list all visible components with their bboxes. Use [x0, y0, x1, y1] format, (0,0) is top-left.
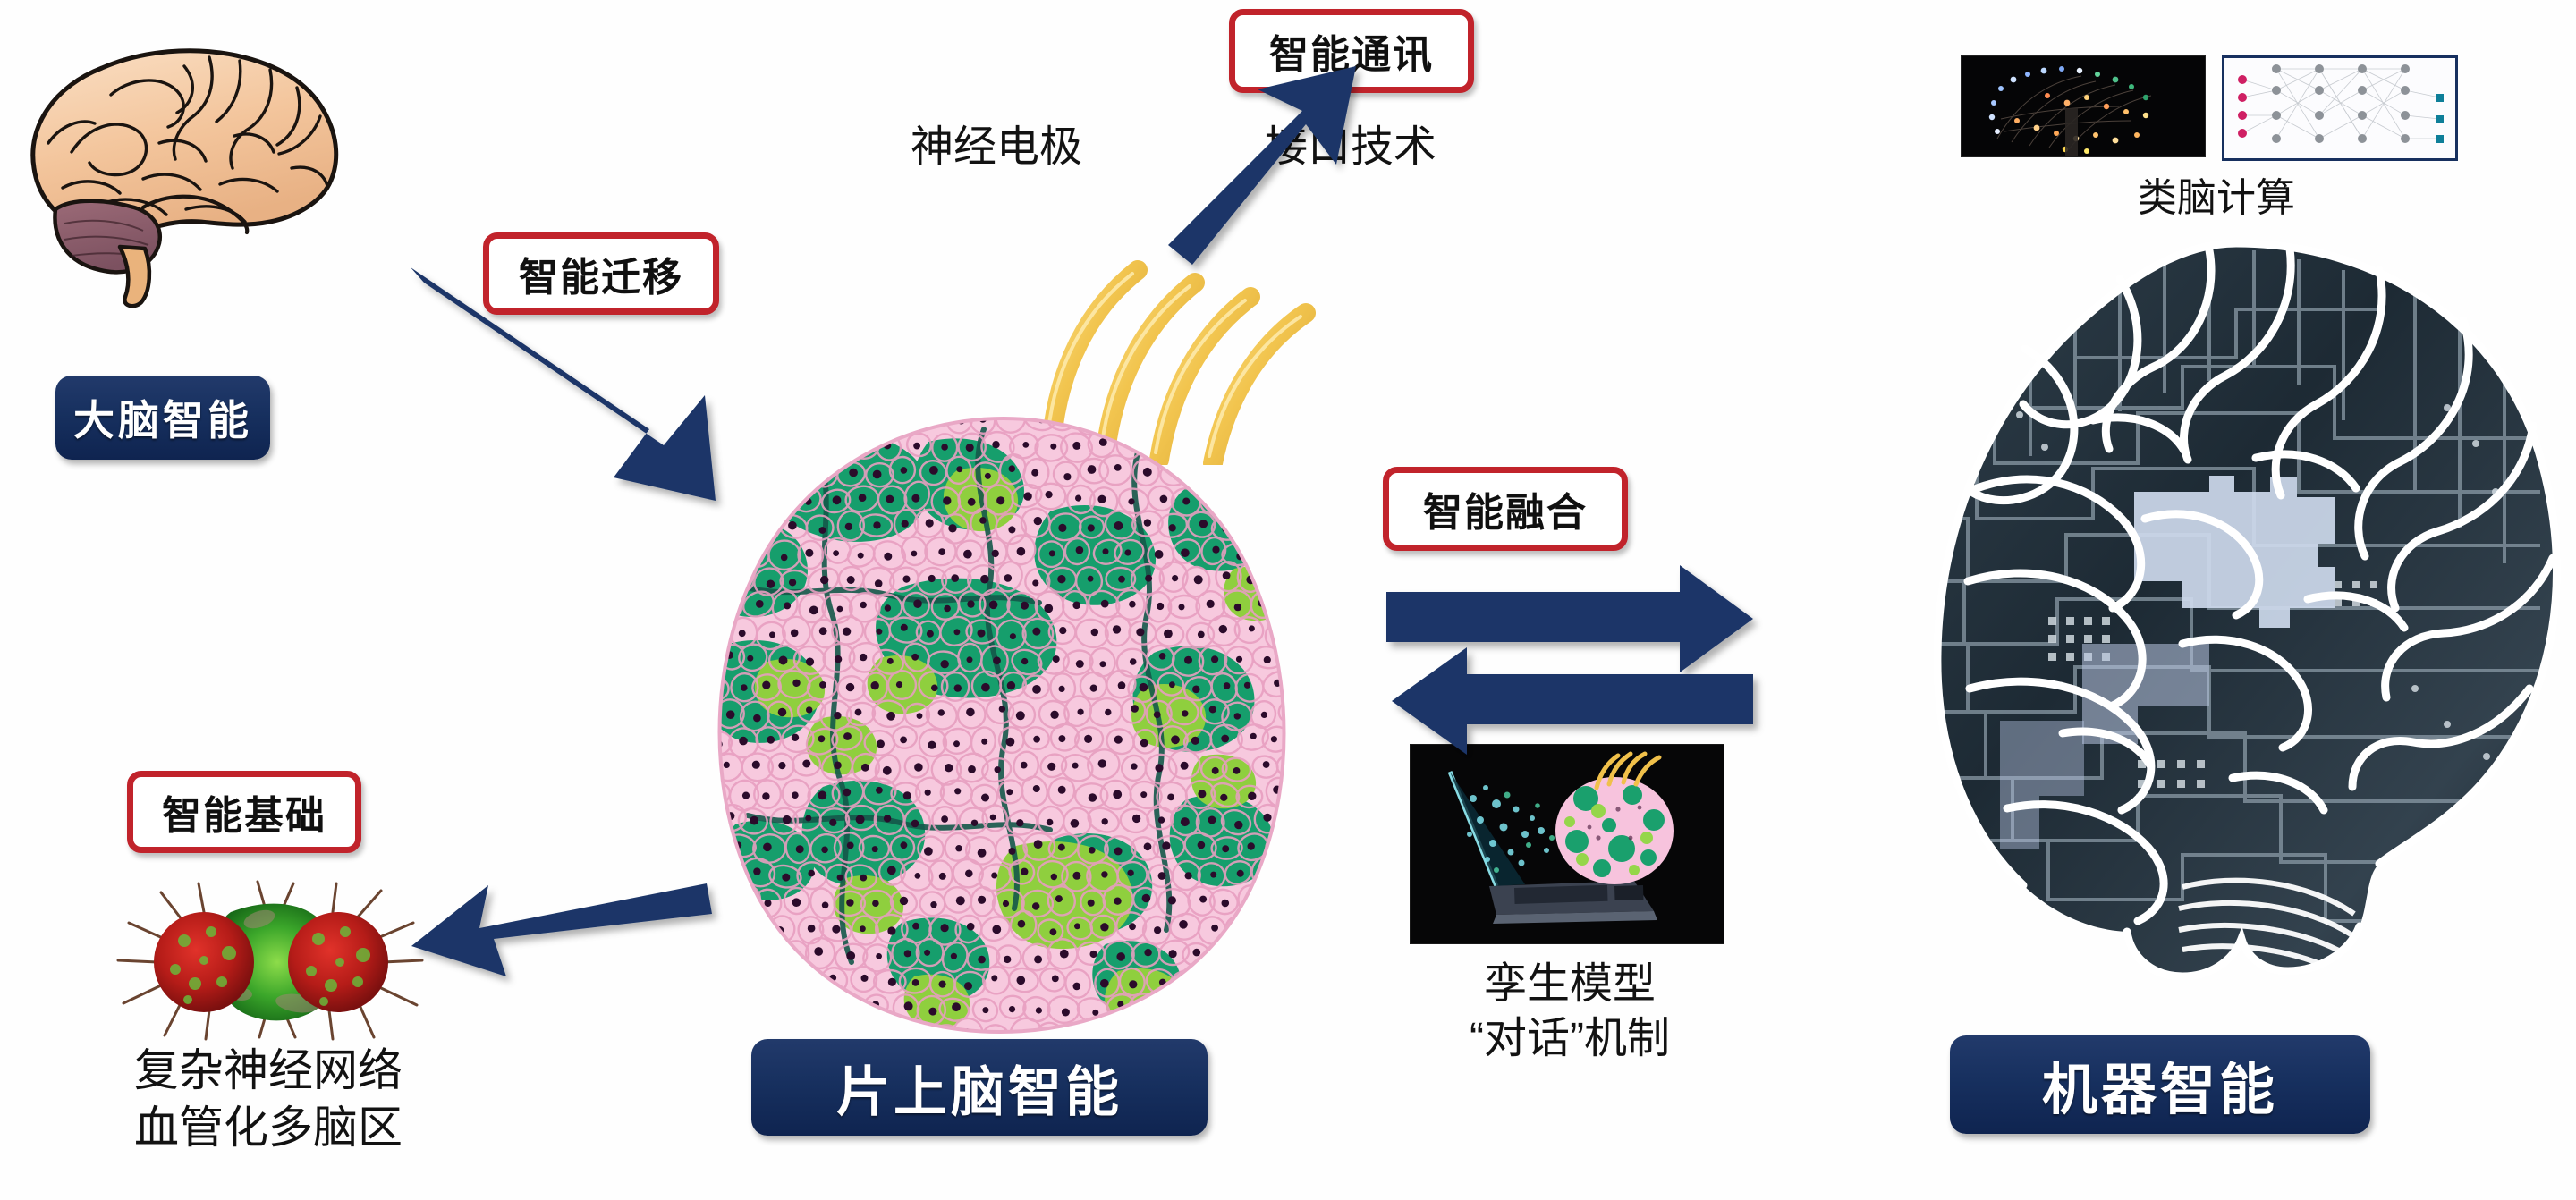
- node-brain-intelligence-label: 大脑智能: [73, 388, 252, 447]
- process-label-fusion[interactable]: 智能融合: [1383, 467, 1628, 551]
- caption-foundation-line2: 血管化多脑区: [54, 1099, 483, 1156]
- arrow-intelligence-foundation: [411, 883, 712, 976]
- process-label-communication[interactable]: 智能通讯: [1229, 9, 1474, 93]
- node-chip-brain-intelligence[interactable]: 片上脑智能: [751, 1039, 1207, 1136]
- node-chip-brain-intelligence-label: 片上脑智能: [836, 1049, 1123, 1127]
- arrow-fusion-right: [1386, 565, 1753, 672]
- diagram-canvas: 大脑智能 智能迁移 智能通讯 智能融合 智能基础 神经电极 接口技术 类脑计算: [0, 0, 2576, 1200]
- annotation-neuromorphic-computing: 类脑计算: [2138, 165, 2295, 223]
- node-brain-intelligence[interactable]: 大脑智能: [55, 376, 270, 460]
- anatomical-brain-illustration: [9, 18, 385, 313]
- caption-twin-model-line2: “对话”机制: [1395, 1011, 1744, 1066]
- process-label-foundation-text: 智能基础: [162, 783, 326, 841]
- circuit-board-brain-illustration: [1914, 224, 2576, 1019]
- process-label-transfer-text: 智能迁移: [519, 245, 683, 302]
- neural-network-node-grid: [2222, 55, 2458, 161]
- caption-twin-model: 孪生模型 “对话”机制: [1395, 957, 1744, 1067]
- process-label-foundation[interactable]: 智能基础: [127, 771, 361, 853]
- node-machine-intelligence-label: 机器智能: [2042, 1044, 2278, 1125]
- arrow-fusion-left: [1392, 647, 1753, 755]
- neuron-constellation-brain-photo: [1961, 55, 2206, 157]
- process-label-communication-text: 智能通讯: [1269, 22, 1434, 80]
- node-machine-intelligence[interactable]: 机器智能: [1950, 1035, 2370, 1134]
- caption-foundation: 复杂神经网络 血管化多脑区: [54, 1042, 483, 1156]
- laptop-emitting-organoid-photo: [1410, 744, 1724, 944]
- fluorescent-organoid-micrograph: [98, 876, 456, 1042]
- caption-foundation-line1: 复杂神经网络: [54, 1042, 483, 1099]
- caption-twin-model-line1: 孪生模型: [1395, 957, 1744, 1011]
- process-label-fusion-text: 智能融合: [1423, 480, 1588, 537]
- brain-organoid-cell-cluster: [689, 411, 1306, 1037]
- process-label-transfer[interactable]: 智能迁移: [483, 232, 719, 315]
